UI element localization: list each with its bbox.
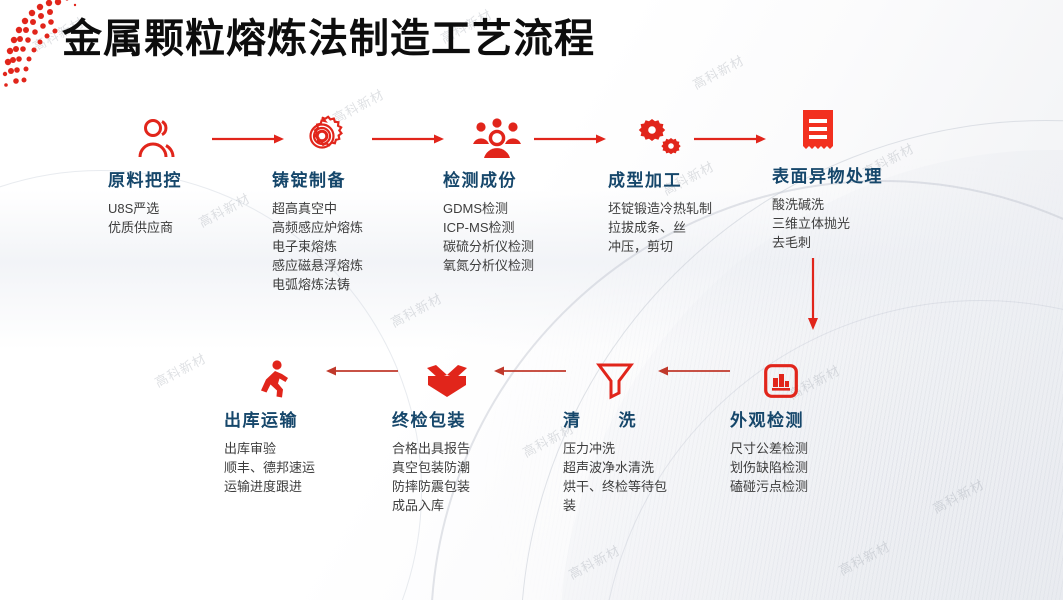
gear-target-icon (300, 114, 344, 158)
step-detail-item: 运输进度跟进 (224, 477, 389, 496)
flow-step-surface-treatment[interactable]: 表面异物处理 酸洗碱洗 三维立体抛光 去毛刺 (772, 108, 937, 252)
page-title: 金属颗粒熔炼法制造工艺流程 (62, 6, 595, 64)
step-detail-item: 压力冲洗 (563, 439, 728, 458)
step-detail-item: 超声波净水清洗 (563, 458, 728, 477)
step-detail-list: GDMS检测 ICP-MS检测 碳硫分析仪检测 氧氮分析仪检测 (443, 199, 608, 275)
step-detail-item: 出库审验 (224, 439, 389, 458)
step-detail-item: 坯锭锻造冷热轧制 (608, 199, 773, 218)
step-detail-item: 顺丰、德邦速运 (224, 458, 389, 477)
step-title: 出库运输 (224, 406, 389, 431)
step-detail-list: 坯锭锻造冷热轧制 拉拔成条、丝 冲压，剪切 (608, 199, 773, 256)
step-detail-item: 去毛刺 (772, 233, 937, 252)
step-detail-list: 出库审验 顺丰、德邦速运 运输进度跟进 (224, 439, 389, 496)
step-title: 原料把控 (108, 166, 273, 191)
step-title: 清 洗 (563, 406, 728, 431)
step-detail-list: 尺寸公差检测 划伤缺陷检测 磕碰污点检测 (730, 439, 895, 496)
step-detail-item: 磕碰污点检测 (730, 477, 895, 496)
arrow-down-step5-step6 (805, 258, 821, 334)
step-detail-list: 压力冲洗 超声波净水清洗 烘干、终检等待包装 (563, 439, 728, 515)
funnel-icon (597, 362, 633, 398)
step-detail-item: 防摔防震包装 (392, 477, 557, 496)
step-detail-item: 烘干、终检等待包装 (563, 477, 675, 515)
people-group-icon (471, 118, 523, 158)
step-detail-item: 优质供应商 (108, 218, 273, 237)
step-detail-item: 电弧熔炼法铸 (272, 275, 437, 294)
step-detail-list: 超高真空中 高频感应炉熔炼 电子束熔炼 感应磁悬浮熔炼 电弧熔炼法铸 (272, 199, 437, 294)
step-title: 成型加工 (608, 166, 773, 191)
arrow-left-step7-step8 (486, 365, 566, 377)
step-detail-item: 氧氮分析仪检测 (443, 256, 608, 275)
step-detail-item: 三维立体抛光 (772, 214, 937, 233)
arrow-right-step1-step2 (212, 133, 288, 145)
step-title: 终检包装 (392, 406, 557, 431)
step-detail-item: 成品入库 (392, 496, 557, 515)
flow-step-raw-material[interactable]: 原料把控 U8S严选 优质供应商 (108, 112, 273, 237)
step-detail-item: 尺寸公差检测 (730, 439, 895, 458)
step-detail-list: 合格出具报告 真空包装防潮 防摔防震包装 成品入库 (392, 439, 557, 515)
step-detail-item: U8S严选 (108, 199, 273, 218)
step-detail-item: 冲压，剪切 (608, 237, 773, 256)
step-detail-item: ICP-MS检测 (443, 218, 608, 237)
step-icon-wrapper (730, 352, 895, 398)
step-detail-item: 高频感应炉熔炼 (272, 218, 437, 237)
step-detail-list: 酸洗碱洗 三维立体抛光 去毛刺 (772, 195, 937, 252)
arrow-left-step8-step9 (318, 365, 398, 377)
step-detail-item: 拉拔成条、丝 (608, 218, 773, 237)
flow-step-appearance-inspection[interactable]: 外观检测 尺寸公差检测 划伤缺陷检测 磕碰污点检测 (730, 352, 895, 496)
open-box-icon (426, 364, 468, 398)
arrow-right-step3-step4 (534, 133, 610, 145)
step-icon-wrapper (772, 108, 937, 154)
step-title: 检测成份 (443, 166, 608, 191)
step-detail-item: 酸洗碱洗 (772, 195, 937, 214)
arrow-right-step4-step5 (694, 133, 770, 145)
step-detail-item: 超高真空中 (272, 199, 437, 218)
step-detail-item: GDMS检测 (443, 199, 608, 218)
step-detail-item: 划伤缺陷检测 (730, 458, 895, 477)
step-title: 铸锭制备 (272, 166, 437, 191)
walking-person-icon (258, 360, 292, 398)
step-detail-item: 合格出具报告 (392, 439, 557, 458)
step-title: 表面异物处理 (772, 162, 937, 187)
two-people-outline-icon (136, 118, 180, 158)
two-gears-icon (636, 118, 684, 158)
step-detail-list: U8S严选 优质供应商 (108, 199, 273, 237)
step-detail-item: 感应磁悬浮熔炼 (272, 256, 437, 275)
arrow-right-step2-step3 (372, 133, 448, 145)
step-detail-item: 真空包装防潮 (392, 458, 557, 477)
step-detail-item: 碳硫分析仪检测 (443, 237, 608, 256)
arrow-left-step6-step7 (650, 365, 730, 377)
step-detail-item: 电子束熔炼 (272, 237, 437, 256)
inspection-box-icon (764, 364, 798, 398)
step-title: 外观检测 (730, 406, 895, 431)
document-lines-icon (800, 110, 836, 154)
